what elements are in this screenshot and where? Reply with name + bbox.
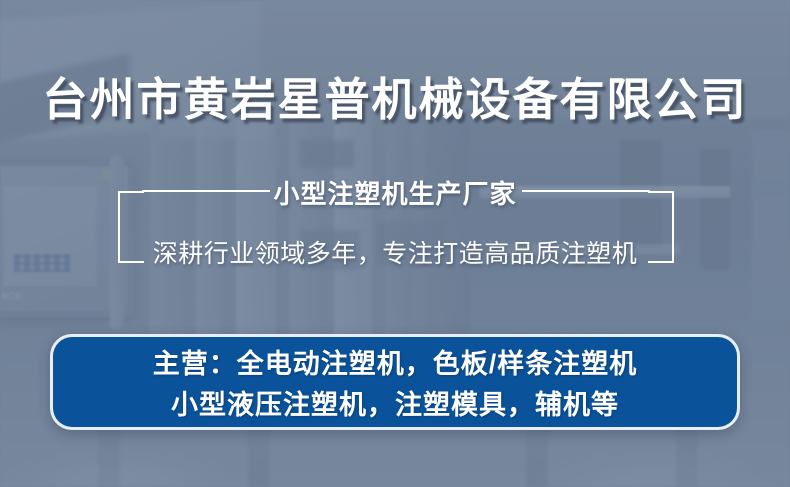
subtitle-headline: 小型注塑机生产厂家 <box>0 174 790 211</box>
banner-content: 台州市黄岩星普机械设备有限公司 小型注塑机生产厂家 深耕行业领域多年，专注打造高… <box>0 0 790 487</box>
tagline-text: 深耕行业领域多年，专注打造高品质注塑机 <box>0 234 790 270</box>
company-title: 台州市黄岩星普机械设备有限公司 <box>0 63 790 128</box>
promo-banner: NCE 台州市黄岩星普机械设备有限公司 小型注塑机生产厂家 深耕行业领域多年，专… <box>0 0 790 487</box>
product-line-2: 小型液压注塑机，注塑模具，辅机等 <box>171 383 619 422</box>
product-highlight-box: 主营：全电动注塑机，色板/样条注塑机 小型液压注塑机，注塑模具，辅机等 <box>50 334 740 430</box>
product-line-1: 主营：全电动注塑机，色板/样条注塑机 <box>153 342 638 381</box>
